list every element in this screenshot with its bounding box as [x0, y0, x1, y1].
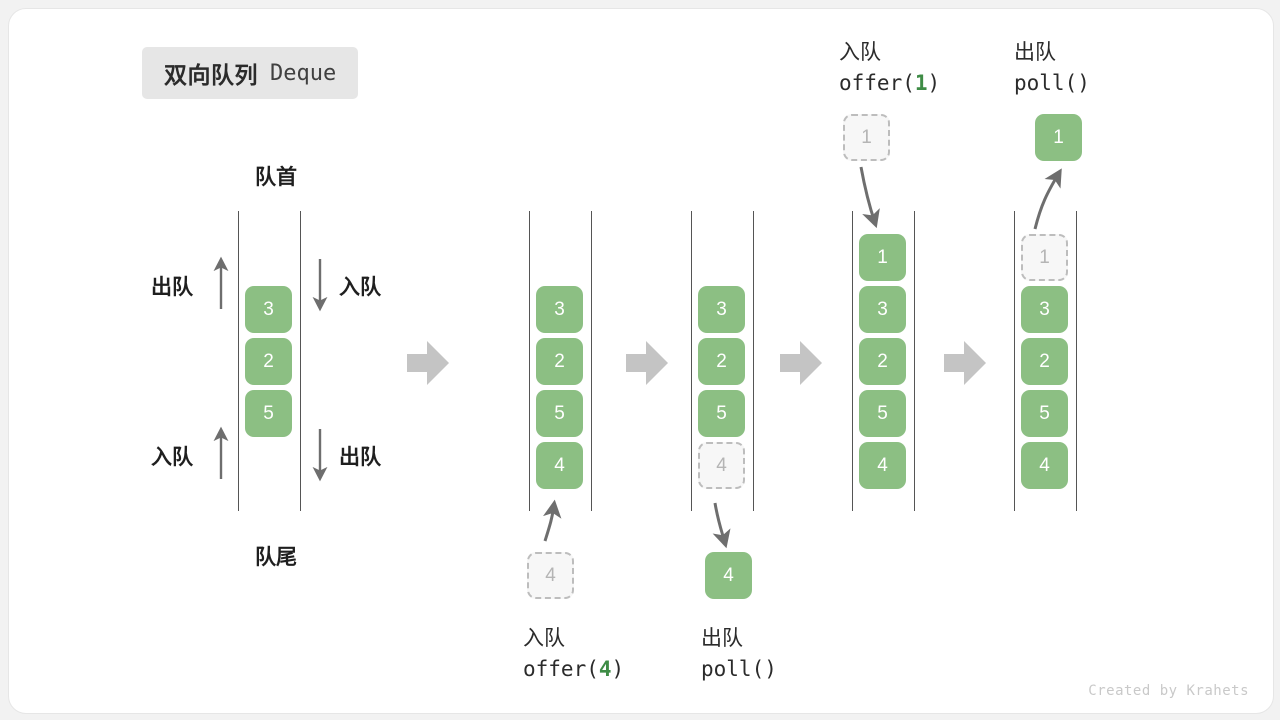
- panel1-cell-1: 2: [245, 338, 292, 385]
- panel4-caption-code: offer(1): [839, 68, 940, 99]
- panel5-caption: 出队 poll(): [1014, 37, 1090, 99]
- arrows-overlay: [9, 9, 1273, 713]
- panel2-cell-0: 3: [536, 286, 583, 333]
- panel3-dequeue-arrow: [715, 503, 725, 543]
- panel3-cell-1: 2: [698, 338, 745, 385]
- panel3-vacated-ghost-cell: 4: [698, 442, 745, 489]
- panel4-rail-left: [852, 211, 853, 511]
- block-arrow-1: [407, 341, 449, 385]
- panel1-right-bottom-label: 出队: [339, 441, 381, 471]
- panel3-caption: 出队 poll(): [701, 623, 777, 685]
- panel5-cell-2: 5: [1021, 390, 1068, 437]
- panel1-rail-right: [300, 211, 301, 511]
- panel1-rail-left: [238, 211, 239, 511]
- panel5-cell-1: 2: [1021, 338, 1068, 385]
- panel4-cell-4: 4: [859, 442, 906, 489]
- panel5-caption-cn: 出队: [1014, 37, 1090, 68]
- panel2-cell-3: 4: [536, 442, 583, 489]
- panel3-rail-right: [753, 211, 754, 511]
- panel2-caption: 入队 offer(4): [523, 623, 624, 685]
- title-english: Deque: [270, 61, 336, 86]
- panel2-rail-left: [529, 211, 530, 511]
- panel3-caption-code: poll(): [701, 654, 777, 685]
- panel1-left-bottom-label: 入队: [151, 441, 193, 471]
- block-arrow-3: [780, 341, 822, 385]
- panel4-rail-right: [914, 211, 915, 511]
- credit-text: Created by Krahets: [1088, 683, 1249, 699]
- panel2-cell-2: 5: [536, 390, 583, 437]
- title-chinese: 双向队列: [164, 56, 258, 90]
- panel5-cell-0: 3: [1021, 286, 1068, 333]
- panel4-cell-2: 2: [859, 338, 906, 385]
- panel1-left-top-label: 出队: [151, 271, 193, 301]
- panel4-enqueue-arrow: [861, 167, 875, 223]
- panel2-incoming-ghost-cell: 4: [527, 552, 574, 599]
- panel5-rail-right: [1076, 211, 1077, 511]
- panel3-caption-cn: 出队: [701, 623, 777, 654]
- title-badge: 双向队列 Deque: [142, 47, 358, 99]
- panel2-rail-right: [591, 211, 592, 511]
- panel1-right-top-label: 入队: [339, 271, 381, 301]
- panel3-rail-left: [691, 211, 692, 511]
- panel2-caption-code: offer(4): [523, 654, 624, 685]
- panel2-enqueue-arrow: [545, 505, 554, 541]
- panel1-cell-2: 5: [245, 390, 292, 437]
- panel5-vacated-ghost-cell: 1: [1021, 234, 1068, 281]
- panel4-cell-3: 5: [859, 390, 906, 437]
- block-arrow-4: [944, 341, 986, 385]
- panel3-cell-0: 3: [698, 286, 745, 333]
- panel3-popped-cell: 4: [705, 552, 752, 599]
- panel4-caption: 入队 offer(1): [839, 37, 940, 99]
- head-label: 队首: [255, 161, 297, 191]
- panel4-caption-cn: 入队: [839, 37, 940, 68]
- tail-label: 队尾: [255, 541, 297, 571]
- panel4-cell-1: 3: [859, 286, 906, 333]
- panel2-caption-cn: 入队: [523, 623, 624, 654]
- diagram-card: 双向队列 Deque 队首 3 2 5 出队 入队 入队 出队 队尾 3 2 5…: [8, 8, 1274, 714]
- panel5-popped-cell: 1: [1035, 114, 1082, 161]
- panel5-rail-left: [1014, 211, 1015, 511]
- panel4-incoming-ghost-cell: 1: [843, 114, 890, 161]
- block-arrow-2: [626, 341, 668, 385]
- panel5-caption-code: poll(): [1014, 68, 1090, 99]
- panel3-cell-2: 5: [698, 390, 745, 437]
- panel1-cell-0: 3: [245, 286, 292, 333]
- panel5-cell-3: 4: [1021, 442, 1068, 489]
- panel2-cell-1: 2: [536, 338, 583, 385]
- panel4-cell-0: 1: [859, 234, 906, 281]
- diagram-stage: 双向队列 Deque 队首 3 2 5 出队 入队 入队 出队 队尾 3 2 5…: [9, 9, 1273, 713]
- panel5-dequeue-arrow: [1035, 173, 1059, 229]
